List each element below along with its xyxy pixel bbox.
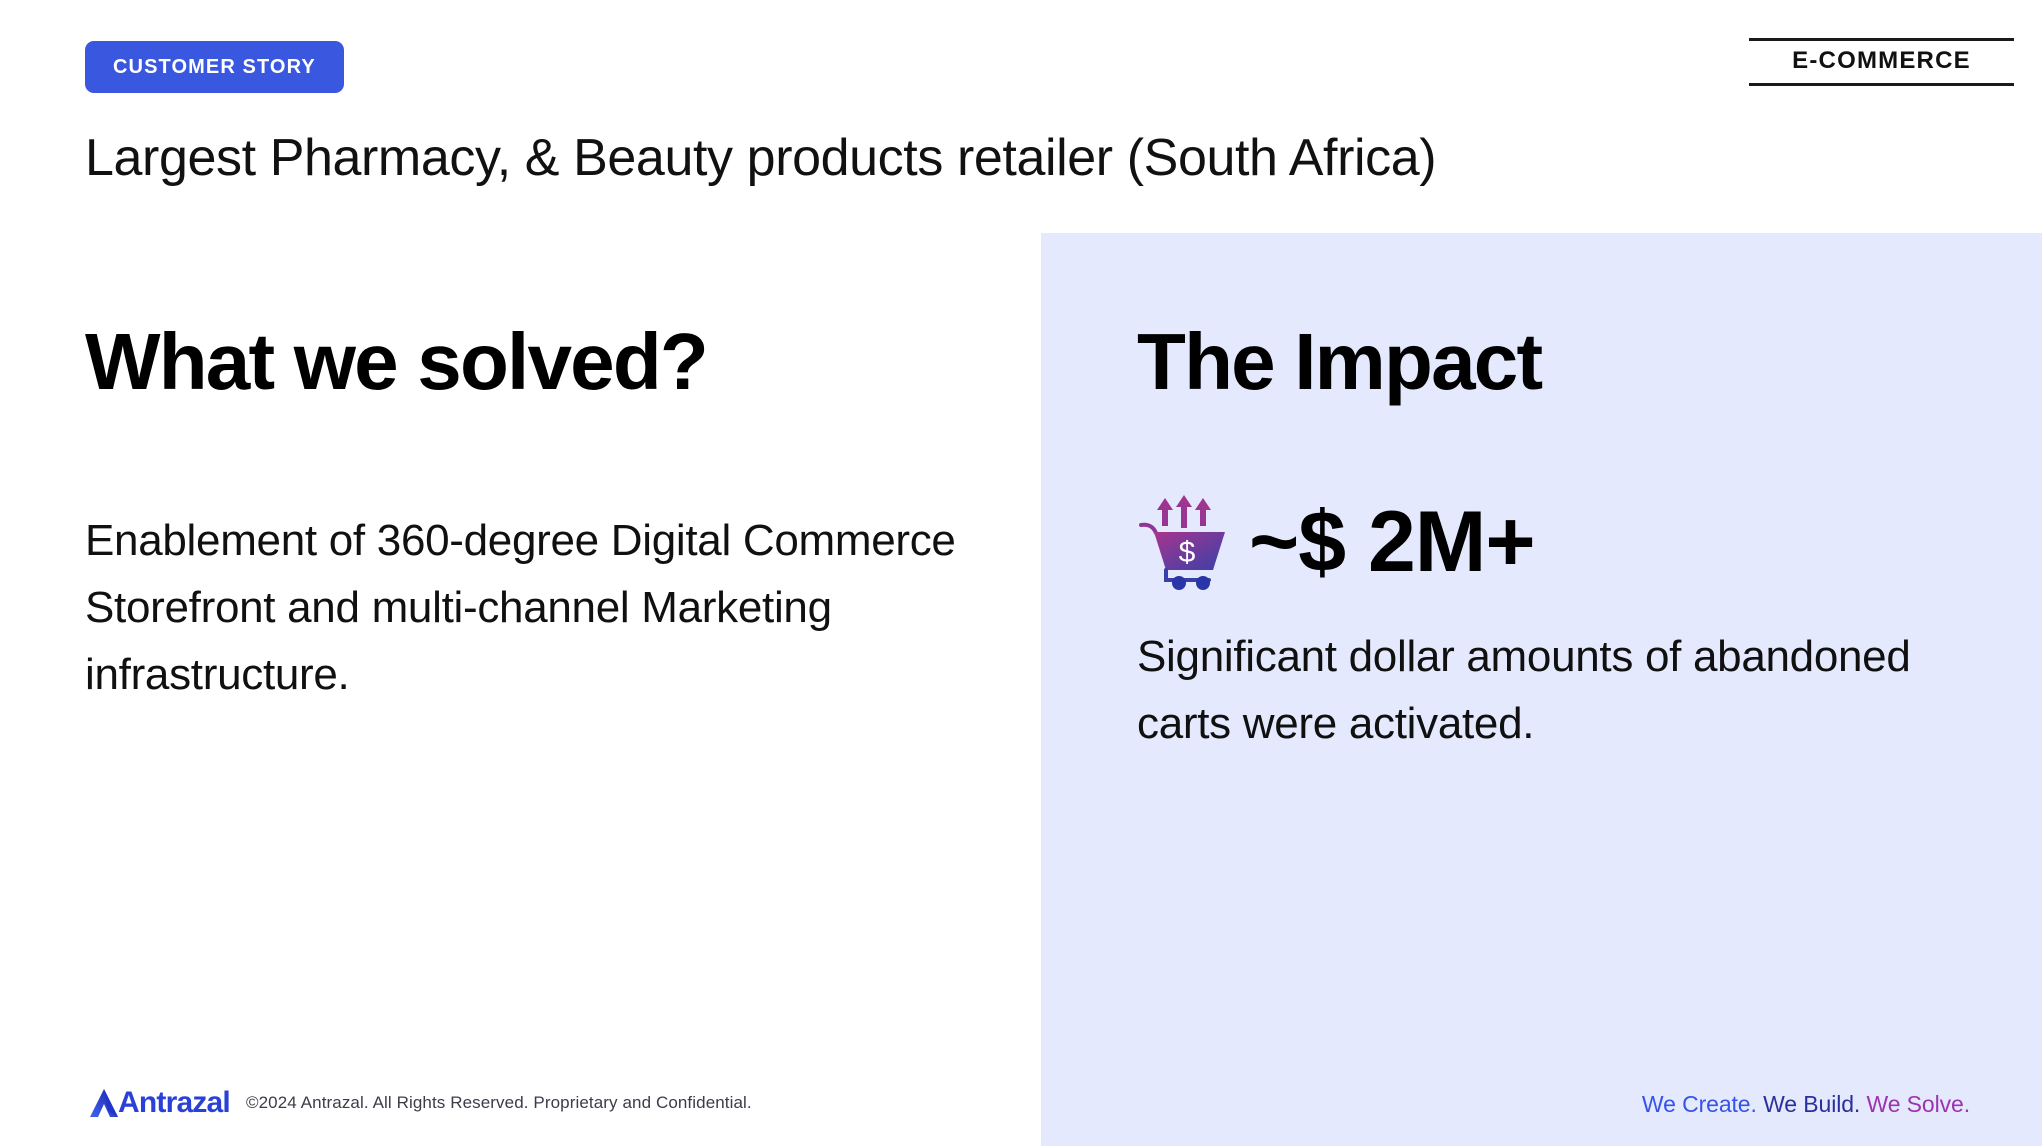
- antrazal-logo-mark: [88, 1087, 122, 1119]
- copyright-text: ©2024 Antrazal. All Rights Reserved. Pro…: [246, 1093, 752, 1113]
- page-title: Largest Pharmacy, & Beauty products reta…: [85, 128, 1436, 188]
- tagline-solve: We Solve.: [1867, 1091, 1971, 1117]
- shopping-cart-dollar-icon: $: [1137, 494, 1231, 590]
- impact-body: Significant dollar amounts of abandoned …: [1137, 624, 1957, 758]
- antrazal-logo: Antrazal: [88, 1086, 230, 1120]
- footer-left: Antrazal ©2024 Antrazal. All Rights Rese…: [88, 1086, 752, 1120]
- impact-heading: The Impact: [1137, 320, 1957, 404]
- svg-text:$: $: [1179, 536, 1196, 569]
- impact-column: The Impact: [1137, 320, 1957, 758]
- impact-metric-value: ~$ 2M+: [1249, 499, 1535, 585]
- category-tag: E-COMMERCE: [1749, 38, 2014, 86]
- what-we-solved-column: What we solved? Enablement of 360-degree…: [85, 320, 985, 709]
- impact-metric-row: $ ~$ 2M+: [1137, 494, 1957, 590]
- tagline-build: We Build.: [1763, 1091, 1860, 1117]
- what-we-solved-heading: What we solved?: [85, 320, 985, 404]
- antrazal-logo-text: Antrazal: [118, 1086, 230, 1120]
- tagline-create: We Create.: [1642, 1091, 1757, 1117]
- what-we-solved-body: Enablement of 360-degree Digital Commerc…: [85, 508, 985, 709]
- company-tagline: We Create. We Build. We Solve.: [1642, 1091, 1970, 1118]
- customer-story-badge: CUSTOMER STORY: [85, 41, 344, 93]
